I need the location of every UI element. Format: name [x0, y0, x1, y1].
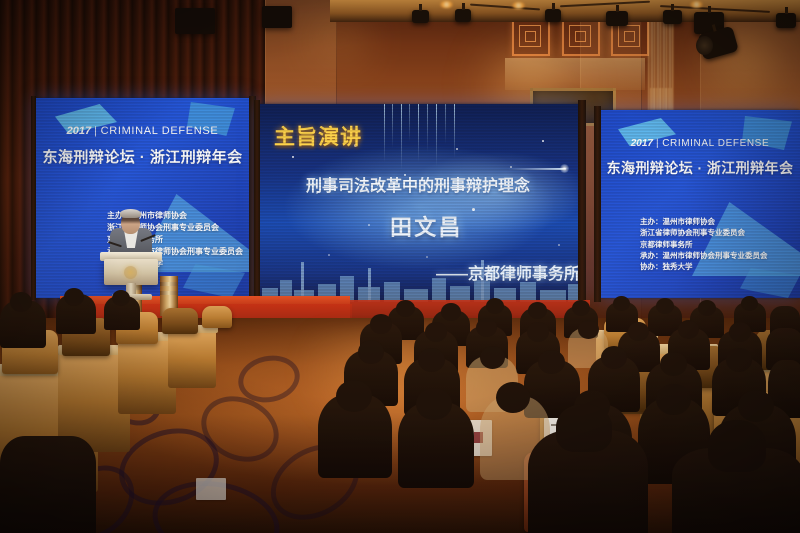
screen-bezel [594, 106, 601, 302]
screen-year-right: 2017 [631, 138, 653, 149]
screen-credits-right: 主办：温州市律师协会 浙江省律师协会刑事专业委员会 京都律师事务所 承办：温州市… [640, 216, 768, 272]
screen-separator-left: | [91, 125, 101, 137]
audience-member-head [698, 300, 716, 316]
chinese-key-pattern-icon [512, 18, 550, 56]
audience-member-head [358, 340, 384, 364]
led-screen-right: 2017|CRIMINAL DEFENSE 东海刑辩论坛 · 浙江刑辩年会 主办… [600, 110, 800, 298]
screen-separator-right: | [653, 138, 662, 149]
audience-member-head [578, 320, 599, 339]
screen-eyebrow-left: 2017|CRIMINAL DEFENSE [35, 125, 250, 137]
audience-chair [202, 306, 232, 328]
lighting-truss [330, 0, 800, 22]
audience-member-head [396, 300, 415, 317]
audience-member-head [416, 388, 452, 420]
screen-bezel [254, 100, 260, 306]
audience-member-head [613, 296, 630, 311]
audience-member-head [476, 318, 497, 337]
screen-eyebrow-en-left: CRIMINAL DEFENSE [101, 125, 219, 137]
ceiling-downlight [512, 2, 525, 9]
audience-member-head [729, 322, 751, 342]
audience-member-head [10, 292, 32, 312]
audience-member-head [741, 296, 758, 311]
attendee-placard [196, 478, 226, 500]
hanging-speaker [262, 6, 292, 28]
conference-photo-scene: 2017|CRIMINAL DEFENSE 东海刑辩论坛 · 浙江刑辩年会 主办… [0, 0, 800, 533]
stage-spotlight [663, 10, 682, 24]
audience-member-head [480, 346, 505, 369]
ceiling-downlight [690, 1, 703, 8]
foreground-attendee-head [708, 420, 766, 472]
foreground-attendee-head [556, 404, 612, 452]
audience-member-head [656, 384, 691, 415]
audience-member-head [441, 303, 461, 321]
hanging-speaker [175, 8, 215, 34]
screen-title-left: 东海刑辩论坛 · 浙江刑辩年会 [35, 146, 250, 167]
keynote-affiliation: ——京都律师事务所 [436, 260, 580, 284]
audience-member-head [486, 298, 504, 314]
stage-spotlight [455, 9, 471, 22]
speaker-hair [120, 209, 141, 218]
keynote-label: 主旨演讲 [274, 121, 362, 151]
audience-member-head [527, 322, 549, 342]
audience-member-head [64, 288, 84, 306]
credit-line: 京都律师事务所 [640, 239, 768, 250]
audience-member-head [370, 314, 392, 334]
audience-member-head [538, 350, 565, 374]
credit-line: 协办：独秀大学 [640, 261, 768, 272]
keynote-speaker-name: 田文昌 [390, 210, 463, 242]
screen-eyebrow-right: 2017|CRIMINAL DEFENSE [600, 138, 800, 149]
audience-member-head [528, 302, 547, 319]
screen-title-right: 东海刑辩论坛 · 浙江刑辩年会 [600, 158, 800, 178]
ceiling-downlight [440, 1, 453, 8]
credit-line: 承办：温州市律师协会刑事专业委员会 [640, 250, 768, 261]
stage-spotlight [545, 9, 561, 22]
audience-member-head [418, 348, 445, 372]
chinese-key-pattern-icon [562, 18, 600, 56]
audience-member-head [425, 322, 447, 342]
audience-member-head [726, 348, 752, 372]
podium-emblem-icon [124, 266, 137, 279]
wall-accent-band [505, 58, 645, 90]
audience-member-head [678, 320, 699, 339]
credit-line: 主办：温州市律师协会 [640, 216, 768, 227]
screen-year-left: 2017 [67, 125, 91, 137]
credit-line: 浙江省律师协会刑事专业委员会 [640, 227, 768, 238]
audience-member-head [112, 290, 130, 306]
audience-member-head [656, 298, 674, 314]
audience-member-head [496, 382, 530, 413]
audience-member-head [572, 300, 590, 316]
stage-spotlight [412, 10, 429, 23]
audience-chair [162, 308, 198, 334]
led-screen-center: 主旨演讲 刑事司法改革中的刑事辩护理念 田文昌 ——京都律师事务所 [258, 104, 580, 302]
audience-member-head [738, 390, 774, 422]
screen-bezel [31, 96, 36, 300]
screen-bezel [578, 100, 586, 306]
spotlight-lens [696, 36, 713, 55]
skirted-table [168, 330, 216, 388]
foreground-attendee [0, 436, 96, 533]
stage-spotlight [776, 13, 796, 28]
audience-member-head [336, 380, 372, 412]
keynote-topic: 刑事司法改革中的刑事辩护理念 [306, 172, 530, 196]
audience-member-head [601, 346, 627, 369]
audience-member-head [660, 352, 687, 376]
screen-eyebrow-en-right: CRIMINAL DEFENSE [662, 138, 769, 149]
audience-member-head [628, 322, 649, 341]
stage-spotlight [606, 11, 628, 26]
